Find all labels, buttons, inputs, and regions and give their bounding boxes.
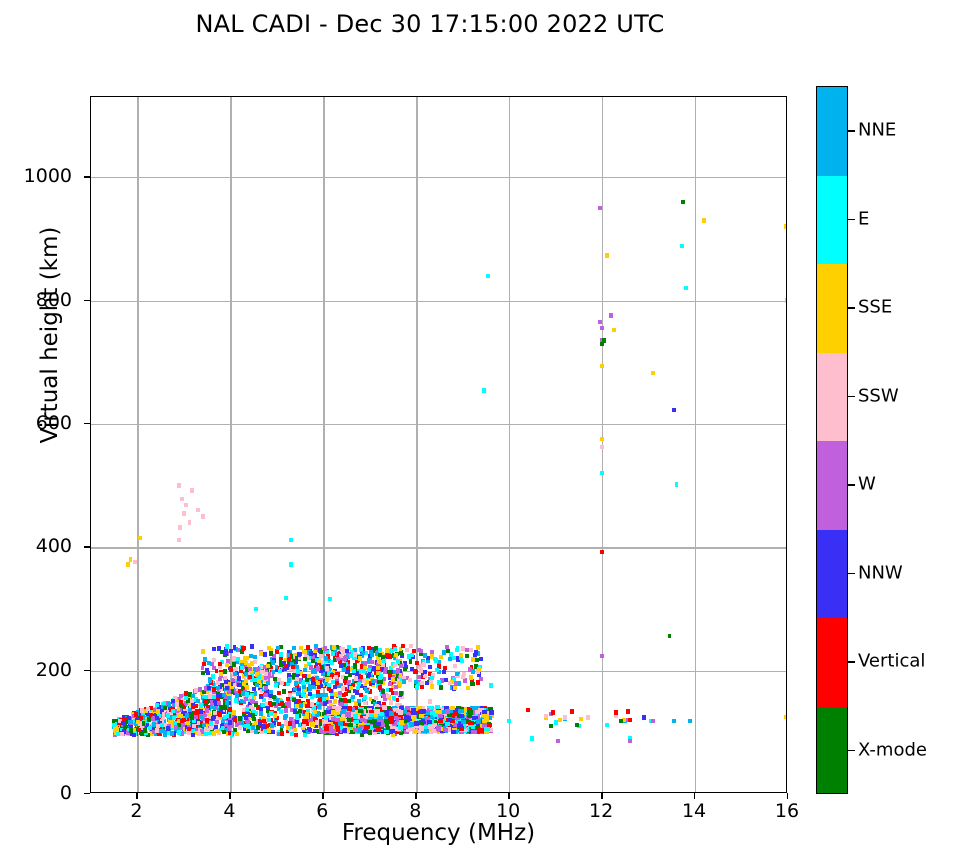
scatter-point	[430, 684, 434, 688]
scatter-point	[367, 668, 371, 672]
scatter-point	[390, 729, 395, 733]
scatter-point	[335, 706, 340, 710]
scatter-point	[279, 652, 283, 656]
x-tick	[229, 793, 230, 799]
scatter-point	[362, 669, 366, 673]
scatter-point	[113, 727, 117, 731]
scatter-point	[180, 497, 184, 501]
scatter-point	[177, 730, 181, 734]
scatter-point	[202, 723, 206, 727]
scatter-point	[438, 714, 443, 718]
scatter-point	[237, 676, 241, 680]
scatter-point	[257, 679, 261, 683]
colorbar[interactable]	[816, 86, 848, 794]
scatter-point	[423, 653, 427, 657]
scatter-point	[267, 646, 271, 650]
gridline-horizontal	[91, 301, 786, 302]
scatter-point	[245, 656, 249, 660]
x-tick-label: 12	[589, 800, 613, 822]
scatter-point	[367, 673, 371, 677]
scatter-point	[199, 709, 203, 713]
scatter-point	[384, 730, 389, 734]
scatter-point	[254, 607, 258, 611]
scatter-point	[363, 661, 367, 665]
scatter-point	[277, 722, 281, 726]
scatter-point	[252, 687, 256, 691]
scatter-point	[155, 703, 159, 707]
scatter-point	[358, 656, 362, 660]
scatter-point	[255, 683, 259, 687]
scatter-point	[408, 678, 412, 682]
scatter-point	[403, 725, 408, 729]
scatter-point	[197, 732, 201, 736]
scatter-point	[544, 714, 548, 718]
scatter-point	[311, 655, 315, 659]
y-tick	[84, 670, 90, 671]
scatter-point	[279, 660, 283, 664]
scatter-point	[129, 557, 133, 561]
scatter-point	[391, 677, 395, 681]
scatter-point	[335, 726, 340, 730]
scatter-point	[306, 645, 310, 649]
scatter-point	[430, 711, 435, 715]
scatter-point	[363, 729, 368, 733]
scatter-point	[206, 671, 210, 675]
x-tick	[508, 793, 509, 799]
scatter-point	[338, 691, 342, 695]
scatter-point	[348, 723, 353, 727]
scatter-point	[259, 651, 263, 655]
scatter-point	[507, 719, 511, 723]
scatter-point	[302, 724, 306, 728]
scatter-point	[249, 705, 253, 709]
scatter-point	[249, 654, 253, 658]
scatter-point	[415, 661, 419, 665]
colorbar-band-x-mode[interactable]	[817, 707, 847, 795]
scatter-point	[363, 695, 367, 699]
scatter-point	[386, 694, 390, 698]
x-tick	[694, 793, 695, 799]
colorbar-tick	[848, 219, 855, 220]
scatter-point	[361, 651, 365, 655]
scatter-point	[250, 644, 254, 648]
scatter-point	[476, 719, 481, 723]
scatter-point	[371, 679, 375, 683]
scatter-point	[284, 708, 288, 712]
scatter-point	[343, 656, 347, 660]
scatter-point	[445, 722, 450, 726]
scatter-point	[244, 697, 248, 701]
colorbar-tick	[848, 307, 855, 308]
colorbar-tick	[848, 130, 855, 131]
ionogram-plot[interactable]	[90, 96, 787, 793]
scatter-point	[614, 714, 618, 718]
scatter-point	[250, 699, 254, 703]
y-tick	[84, 793, 90, 794]
x-tick-label: 16	[775, 800, 799, 822]
scatter-point	[675, 482, 679, 486]
scatter-point	[702, 218, 706, 222]
x-tick-label: 14	[682, 800, 706, 822]
y-tick	[84, 423, 90, 424]
scatter-point	[295, 714, 299, 718]
scatter-point	[276, 646, 280, 650]
scatter-point	[232, 710, 236, 714]
scatter-point	[554, 720, 558, 724]
scatter-point	[325, 666, 329, 670]
scatter-point	[439, 655, 443, 659]
scatter-point	[280, 701, 284, 705]
colorbar-band-w[interactable]	[817, 441, 847, 530]
scatter-point	[429, 680, 433, 684]
scatter-point	[140, 708, 144, 712]
scatter-point	[213, 711, 217, 715]
scatter-point	[357, 682, 361, 686]
scatter-point	[369, 650, 373, 654]
scatter-point	[489, 683, 493, 687]
gridline-vertical	[509, 97, 510, 792]
scatter-point	[262, 698, 266, 702]
colorbar-label-ssw: SSW	[858, 385, 899, 406]
scatter-point	[419, 714, 424, 718]
colorbar-band-nne[interactable]	[817, 87, 847, 176]
scatter-point	[385, 648, 389, 652]
scatter-point	[600, 364, 604, 368]
x-tick	[601, 793, 602, 799]
scatter-point	[409, 722, 414, 726]
scatter-point	[466, 686, 470, 690]
scatter-point	[419, 649, 423, 653]
scatter-point	[163, 732, 167, 736]
scatter-point	[134, 713, 138, 717]
scatter-point	[327, 686, 331, 690]
scatter-point	[457, 724, 462, 728]
colorbar-band-e[interactable]	[817, 176, 847, 265]
scatter-point	[316, 666, 320, 670]
scatter-point	[225, 644, 229, 648]
scatter-point	[278, 669, 282, 673]
scatter-point	[282, 689, 286, 693]
scatter-point	[458, 709, 463, 713]
scatter-point	[784, 224, 787, 228]
scatter-point	[403, 667, 407, 671]
page-title: NAL CADI - Dec 30 17:15:00 2022 UTC	[0, 10, 860, 38]
scatter-point	[455, 672, 459, 676]
scatter-point	[459, 714, 464, 718]
scatter-point	[405, 706, 410, 710]
scatter-point	[784, 715, 787, 719]
scatter-point	[196, 699, 200, 703]
x-tick-label: 8	[409, 800, 421, 822]
scatter-point	[398, 710, 403, 714]
scatter-point	[251, 713, 255, 717]
scatter-point	[137, 728, 141, 732]
scatter-point	[191, 694, 195, 698]
gridline-vertical	[137, 97, 138, 792]
scatter-point	[479, 657, 483, 661]
scatter-point	[227, 696, 231, 700]
scatter-point	[388, 654, 392, 658]
scatter-point	[266, 681, 270, 685]
scatter-point	[120, 732, 124, 736]
scatter-point	[177, 538, 181, 542]
scatter-point	[549, 724, 553, 728]
scatter-point	[427, 720, 432, 724]
scatter-point	[152, 722, 156, 726]
scatter-point	[486, 274, 490, 278]
scatter-point	[530, 736, 534, 740]
scatter-point	[121, 721, 125, 725]
scatter-point	[188, 520, 192, 524]
scatter-point	[459, 653, 463, 657]
scatter-point	[331, 680, 335, 684]
colorbar-tick	[848, 661, 855, 662]
scatter-point	[212, 731, 216, 735]
scatter-point	[600, 471, 604, 475]
scatter-point	[387, 670, 391, 674]
scatter-point	[342, 729, 347, 733]
scatter-point	[286, 697, 290, 701]
scatter-point	[214, 725, 218, 729]
scatter-point	[322, 697, 326, 701]
scatter-point	[290, 732, 294, 736]
scatter-point	[435, 668, 439, 672]
scatter-point	[313, 710, 317, 714]
scatter-point	[302, 650, 306, 654]
scatter-point	[280, 731, 284, 735]
scatter-point	[180, 719, 184, 723]
y-tick	[84, 176, 90, 177]
y-tick-label: 400	[0, 535, 72, 557]
scatter-point	[184, 691, 188, 695]
scatter-point	[295, 720, 299, 724]
scatter-point	[223, 705, 227, 709]
scatter-point	[245, 685, 249, 689]
scatter-point	[484, 727, 489, 731]
scatter-point	[452, 656, 456, 660]
scatter-point	[393, 663, 397, 667]
scatter-point	[453, 664, 457, 668]
scatter-point	[174, 725, 178, 729]
scatter-point	[340, 647, 344, 651]
scatter-point	[248, 675, 252, 679]
scatter-point	[316, 694, 320, 698]
scatter-point	[367, 646, 371, 650]
colorbar-label-sse: SSE	[858, 297, 892, 318]
scatter-point	[612, 328, 616, 332]
scatter-point	[182, 511, 186, 515]
scatter-point	[389, 719, 394, 723]
scatter-point	[305, 678, 309, 682]
scatter-point	[184, 503, 188, 507]
scatter-point	[244, 724, 248, 728]
colorbar-tick	[848, 750, 855, 751]
scatter-point	[369, 697, 373, 701]
scatter-point	[308, 686, 312, 690]
scatter-point	[684, 286, 688, 290]
scatter-point	[155, 728, 159, 732]
scatter-point	[228, 721, 232, 725]
colorbar-band-ssw[interactable]	[817, 353, 847, 442]
colorbar-label-w: W	[858, 474, 876, 495]
x-tick	[415, 793, 416, 799]
scatter-point	[398, 725, 403, 729]
colorbar-label-nne: NNE	[858, 120, 896, 141]
scatter-point	[295, 677, 299, 681]
scatter-point	[156, 709, 160, 713]
colorbar-band-sse[interactable]	[817, 264, 847, 353]
scatter-point	[287, 653, 291, 657]
scatter-point	[329, 729, 334, 733]
scatter-point	[443, 728, 448, 732]
scatter-point	[294, 681, 298, 685]
scatter-point	[256, 725, 260, 729]
scatter-point	[224, 680, 228, 684]
scatter-point	[382, 705, 387, 709]
scatter-point	[212, 687, 216, 691]
scatter-point	[305, 704, 309, 708]
scatter-point	[170, 731, 174, 735]
scatter-point	[614, 710, 618, 714]
scatter-point	[292, 646, 296, 650]
scatter-point	[138, 536, 142, 540]
scatter-point	[285, 702, 289, 706]
gridline-vertical	[695, 97, 696, 792]
scatter-point	[267, 728, 271, 732]
scatter-point	[294, 733, 298, 737]
scatter-point	[341, 686, 345, 690]
scatter-point	[196, 508, 200, 512]
scatter-point	[325, 677, 329, 681]
scatter-point	[378, 685, 382, 689]
scatter-point	[238, 716, 242, 720]
scatter-point	[405, 648, 409, 652]
scatter-point	[172, 716, 176, 720]
scatter-point	[489, 710, 494, 714]
scatter-point	[112, 723, 116, 727]
scatter-point	[259, 695, 263, 699]
scatter-point	[377, 659, 381, 663]
scatter-point	[309, 651, 313, 655]
scatter-point	[389, 688, 393, 692]
scatter-point	[268, 701, 272, 705]
scatter-point	[187, 727, 191, 731]
scatter-point	[205, 718, 209, 722]
scatter-point	[423, 670, 427, 674]
scatter-point	[272, 702, 276, 706]
scatter-point	[411, 708, 416, 712]
scatter-point	[167, 702, 171, 706]
scatter-point	[394, 691, 398, 695]
scatter-point	[311, 659, 315, 663]
scatter-point	[482, 710, 487, 714]
scatter-point	[600, 654, 604, 658]
scatter-point	[446, 649, 450, 653]
scatter-point	[351, 695, 355, 699]
scatter-point	[353, 652, 357, 656]
scatter-point	[177, 707, 181, 711]
scatter-point	[681, 200, 685, 204]
scatter-point	[626, 709, 630, 713]
scatter-point	[254, 729, 258, 733]
scatter-point	[428, 699, 432, 703]
scatter-point	[358, 709, 363, 713]
scatter-point	[444, 678, 448, 682]
scatter-point	[241, 646, 245, 650]
scatter-point	[297, 691, 301, 695]
scatter-point	[316, 681, 320, 685]
scatter-point	[284, 596, 288, 600]
colorbar-tick	[848, 573, 855, 574]
scatter-point	[423, 674, 427, 678]
scatter-point	[126, 562, 130, 566]
scatter-point	[146, 707, 150, 711]
scatter-point	[474, 650, 478, 654]
scatter-point	[482, 388, 486, 392]
x-axis-label: Frequency (MHz)	[90, 820, 787, 846]
scatter-point	[451, 730, 456, 734]
scatter-point	[160, 723, 164, 727]
scatter-point	[688, 719, 692, 723]
scatter-point	[345, 649, 349, 653]
scatter-point	[389, 711, 394, 715]
scatter-point	[219, 705, 223, 709]
scatter-point	[672, 719, 676, 723]
scatter-point	[271, 730, 275, 734]
scatter-point	[237, 683, 241, 687]
scatter-point	[526, 708, 530, 712]
scatter-point	[259, 711, 263, 715]
scatter-point	[191, 705, 195, 709]
scatter-point	[335, 681, 339, 685]
scatter-point	[600, 445, 604, 449]
colorbar-band-nnw[interactable]	[817, 530, 847, 619]
scatter-point	[264, 672, 268, 676]
scatter-point	[293, 728, 297, 732]
x-tick-label: 2	[130, 800, 142, 822]
scatter-point	[269, 651, 273, 655]
scatter-point	[274, 683, 278, 687]
scatter-point	[558, 718, 562, 722]
scatter-point	[414, 680, 418, 684]
scatter-point	[575, 723, 579, 727]
scatter-point	[234, 667, 238, 671]
scatter-point	[370, 660, 374, 664]
scatter-point	[336, 657, 340, 661]
scatter-point	[280, 681, 284, 685]
scatter-point	[344, 676, 348, 680]
scatter-point	[330, 673, 334, 677]
colorbar-label-e: E	[858, 208, 869, 229]
colorbar-label-vertical: Vertical	[858, 651, 925, 672]
scatter-point	[129, 720, 133, 724]
x-tick	[322, 793, 323, 799]
scatter-point	[207, 661, 211, 665]
scatter-point	[223, 715, 227, 719]
colorbar-band-vertical[interactable]	[817, 618, 847, 707]
scatter-point	[342, 667, 346, 671]
scatter-point	[379, 674, 383, 678]
scatter-point	[248, 667, 252, 671]
scatter-point	[477, 667, 481, 671]
scatter-point	[205, 708, 209, 712]
scatter-point	[296, 669, 300, 673]
scatter-point	[324, 657, 328, 661]
y-tick-label: 200	[0, 659, 72, 681]
scatter-point	[668, 634, 672, 638]
scatter-point	[469, 648, 473, 652]
scatter-point	[140, 716, 144, 720]
